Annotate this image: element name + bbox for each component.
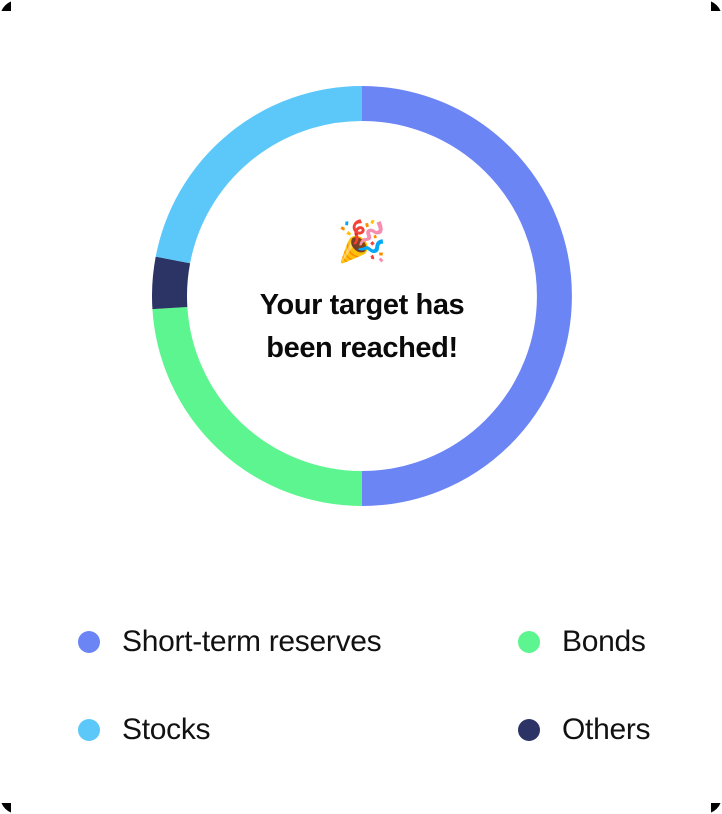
chart-legend: Short-term reserves Bonds Stocks Others [78,598,658,774]
corner-mark-top-left [0,0,11,11]
legend-item-label: Others [562,713,650,747]
donut-segment[interactable] [170,308,362,488]
legend-item-label: Stocks [122,713,210,747]
donut-segment[interactable] [173,104,362,260]
corner-mark-top-right [711,0,722,11]
donut-segment[interactable] [170,260,173,308]
legend-color-dot [518,719,540,741]
result-card: 🎉 Your target has been reached! Short-te… [0,0,722,814]
legend-color-dot [518,631,540,653]
donut-segment-group [170,104,555,489]
legend-item-bonds[interactable]: Bonds [518,625,658,659]
corner-mark-bottom-right [711,803,722,814]
legend-item-short-term-reserves[interactable]: Short-term reserves [78,625,518,659]
donut-segment[interactable] [362,104,554,489]
donut-chart: 🎉 Your target has been reached! [152,86,572,506]
legend-color-dot [78,719,100,741]
legend-item-label: Short-term reserves [122,625,381,659]
legend-item-stocks[interactable]: Stocks [78,713,518,747]
legend-item-others[interactable]: Others [518,713,658,747]
legend-color-dot [78,631,100,653]
donut-chart-svg [152,86,572,506]
legend-item-label: Bonds [562,625,646,659]
corner-mark-bottom-left [0,803,11,814]
